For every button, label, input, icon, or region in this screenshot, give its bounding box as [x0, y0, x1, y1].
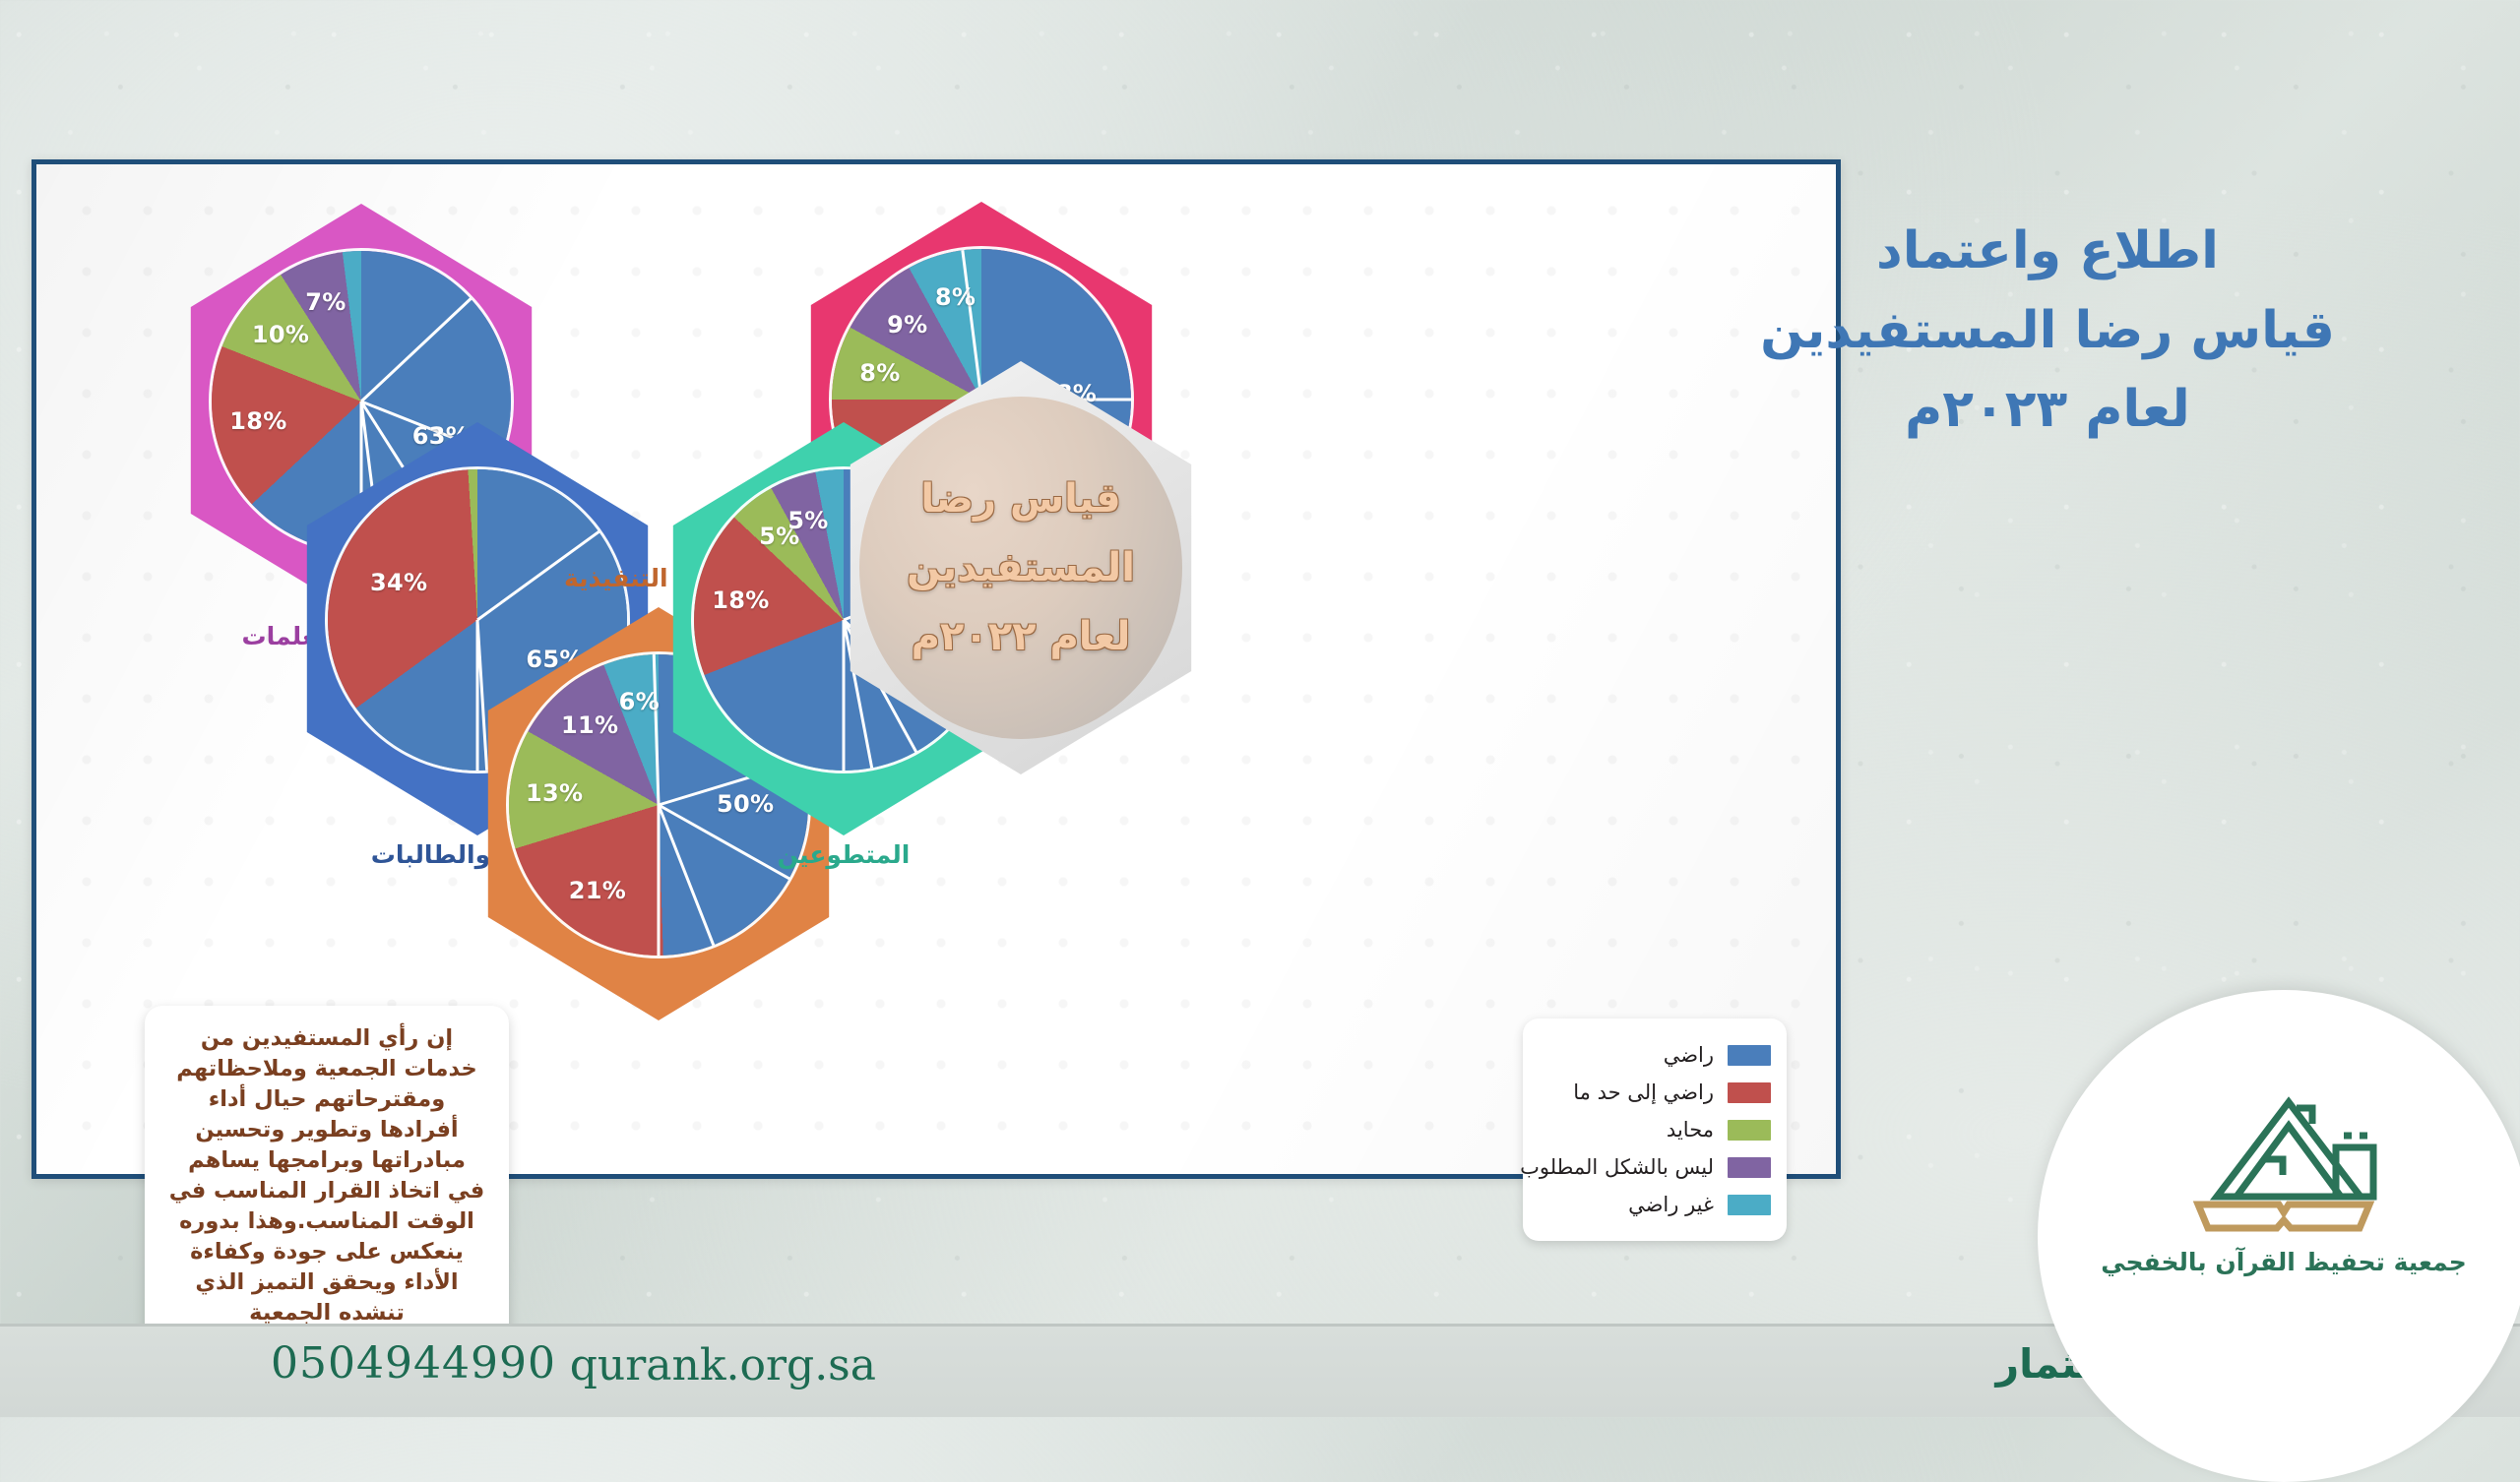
center-badge-line-3: لعام ٢٠٢٢م — [912, 614, 1131, 659]
legend-color-swatch — [1728, 1157, 1771, 1178]
footer-website[interactable]: qurank.org.sa — [570, 1340, 876, 1390]
center-badge-line-2: المستفيدين — [907, 545, 1135, 590]
infographic-panel: 63%18%10%7%المعلمين والمعلمات48%27%8%9%8… — [31, 159, 1841, 1179]
pie-slice-value-label: 8% — [935, 283, 976, 311]
legend-color-swatch — [1728, 1120, 1771, 1141]
legend-label: ليس بالشكل المطلوب — [1520, 1155, 1714, 1179]
legend-row: محايد — [1539, 1111, 1771, 1148]
pie-slice-value-label: 5% — [787, 507, 828, 534]
center-badge-circle: قياس رضا المستفيدين لعام ٢٠٢٢م — [859, 397, 1182, 739]
pie-slice-value-label: 7% — [305, 288, 346, 316]
page-title: اطلاع واعتماد قياس رضا المستفيدين لعام ٢… — [1732, 212, 2362, 450]
legend-row: غير راضي — [1539, 1186, 1771, 1223]
legend-label: غير راضي — [1628, 1193, 1714, 1216]
chart-legend: راضيراضي إلى حد مامحايدليس بالشكل المطلو… — [1523, 1019, 1787, 1241]
pie-slice-value-label: 18% — [712, 587, 769, 614]
commentary-note-text: إن رأي المستفيدين من خدمات الجمعية وملاح… — [169, 1025, 485, 1326]
page-title-line-3: لعام ٢٠٢٣م — [1732, 370, 2362, 450]
pie-slice-value-label: 21% — [569, 877, 626, 904]
commentary-note-box: إن رأي المستفيدين من خدمات الجمعية وملاح… — [145, 1006, 509, 1346]
legend-color-swatch — [1728, 1195, 1771, 1215]
legend-color-swatch — [1728, 1082, 1771, 1103]
center-badge: قياس رضا المستفيدين لعام ٢٠٢٢م — [824, 361, 1218, 774]
page-title-line-2: قياس رضا المستفيدين — [1732, 291, 2362, 371]
pie-slice-value-label: 11% — [561, 711, 618, 739]
legend-row: راضي إلى حد ما — [1539, 1074, 1771, 1111]
pie-slice-value-label: 18% — [229, 407, 286, 435]
quran-association-logo-icon — [2180, 1090, 2387, 1238]
legend-label: راضي — [1664, 1043, 1714, 1067]
legend-label: راضي إلى حد ما — [1573, 1081, 1714, 1104]
page-title-line-1: اطلاع واعتماد — [1732, 212, 2362, 291]
legend-label: محايد — [1667, 1118, 1714, 1142]
legend-row: راضي — [1539, 1036, 1771, 1074]
organization-logo: جمعية تحفيظ القرآن بالخفجي — [2038, 990, 2520, 1482]
pie-slice-value-label: 9% — [887, 311, 927, 339]
pie-chart-title: المتطوعين — [647, 840, 1040, 869]
organization-name: جمعية تحفيظ القرآن بالخفجي — [2101, 1248, 2467, 1276]
legend-color-swatch — [1728, 1045, 1771, 1066]
pie-slice-value-label: 10% — [252, 321, 309, 348]
pie-slice-value-label: 34% — [370, 569, 427, 596]
center-badge-line-1: قياس رضا — [920, 476, 1120, 522]
pie-slice-value-label: 13% — [526, 779, 583, 807]
footer-phone: 0504944990 — [271, 1338, 556, 1389]
legend-row: ليس بالشكل المطلوب — [1539, 1148, 1771, 1186]
